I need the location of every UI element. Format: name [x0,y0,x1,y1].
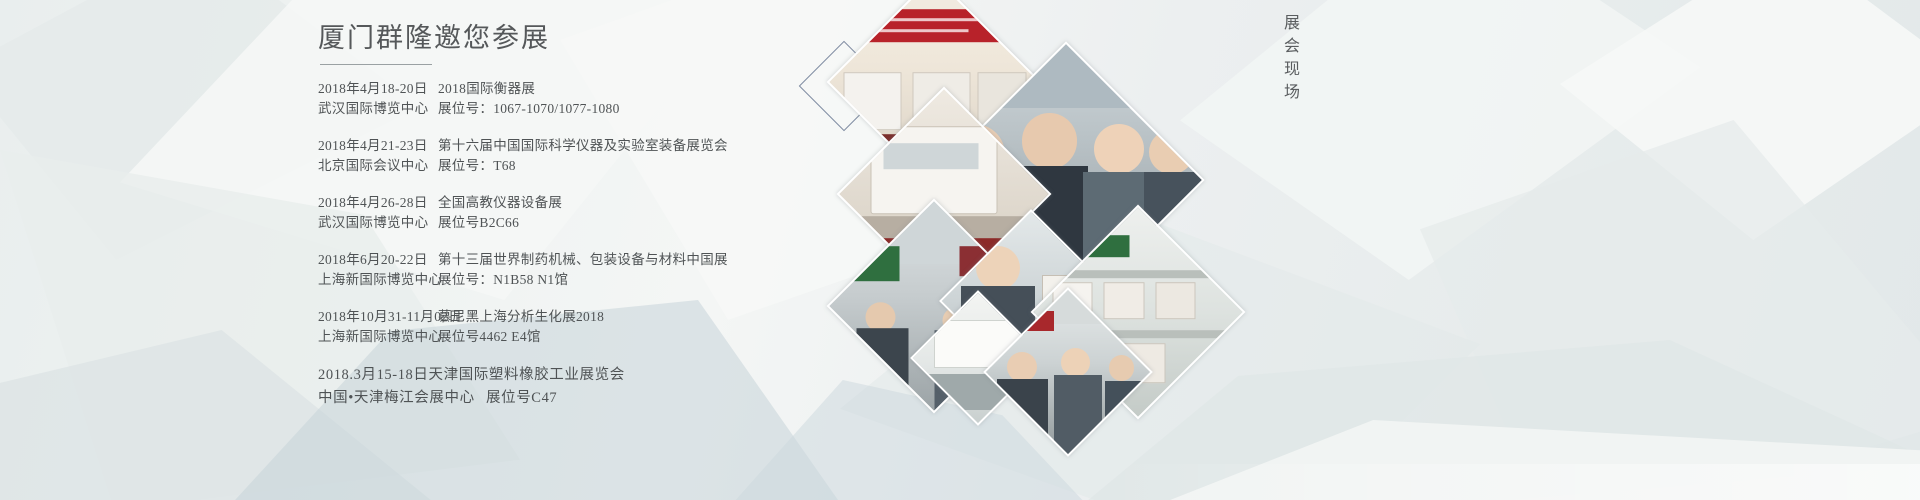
event-name: 全国高教仪器设备展 [438,193,562,213]
event-venue: 武汉国际博览中心 [318,99,438,119]
event-date: 2018年10月31-11月02日 [318,307,438,327]
event-venue: 上海新国际博览中心 [318,327,438,347]
event-date: 2018年4月21-23日 [318,136,438,156]
event-name: 第十六届中国国际科学仪器及实验室装备展览会 [438,136,728,156]
event-booth: 展位号B2C66 [438,213,519,233]
event-name: 2018国际衡器展 [438,79,535,99]
photo-collage [830,0,1250,440]
event-name: 慕尼黑上海分析生化展2018 [438,307,604,327]
event-booth: 展位号：T68 [438,156,516,176]
event-venue: 中国•天津梅江会展中心 [318,387,486,410]
event-venue: 武汉国际博览中心 [318,213,438,233]
event-booth: 展位号：1067-1070/1077-1080 [438,99,620,119]
event-booth: 展位号C47 [486,387,557,410]
event-name: 第十三届世界制药机械、包装设备与材料中国展 [438,250,728,270]
event-venue: 北京国际会议中心 [318,156,438,176]
promo-banner: 厦门群隆邀您参展 2018年4月18-20日 2018国际衡器展 武汉国际博览中… [0,0,1920,500]
event-booth: 展位号4462 E4馆 [438,327,541,347]
section-label-vertical: 展会现场 [1268,14,1302,106]
bottom-highlight-strip [1100,464,1920,500]
title-underline [320,64,432,65]
event-date: 2018年4月18-20日 [318,79,438,99]
event-booth: 展位号：N1B58 N1馆 [438,270,568,290]
event-date: 2018年6月20-22日 [318,250,438,270]
event-venue: 上海新国际博览中心 [318,270,438,290]
event-date: 2018年4月26-28日 [318,193,438,213]
event-date: 2018.3月15-18日天津国际塑料橡胶工业展览会 [318,364,625,387]
